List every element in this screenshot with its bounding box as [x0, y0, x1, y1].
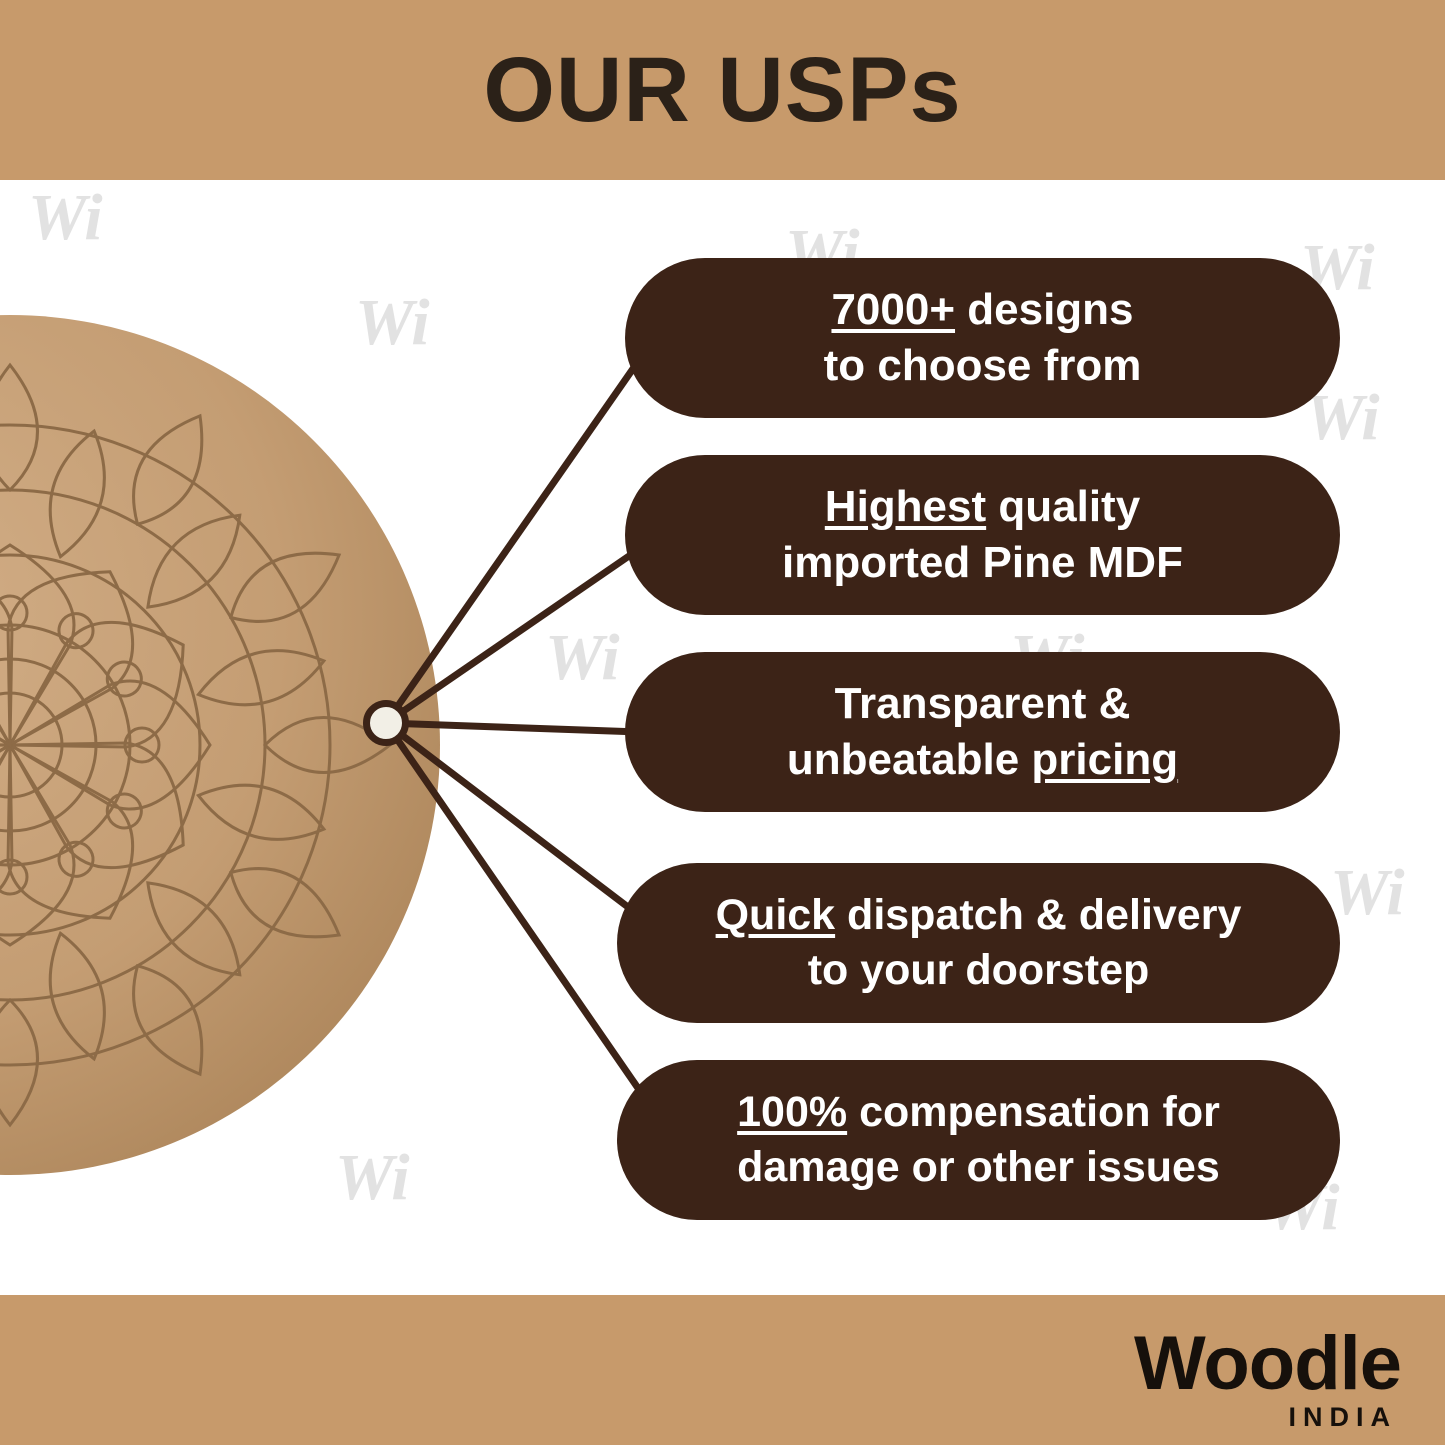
watermark-logo: Wi [1330, 855, 1405, 931]
usp-pricing-line1: Transparent & [835, 679, 1131, 728]
usp-pricing-line2-pre: unbeatable [787, 735, 1032, 784]
watermark-logo: Wi [545, 620, 620, 696]
usp-dispatch-line2: to your doorstep [808, 946, 1150, 994]
usp-pill-quality[interactable]: Highest quality imported Pine MDF [625, 455, 1340, 615]
usp-pill-compensation[interactable]: 100% compensation for damage or other is… [617, 1060, 1340, 1220]
usp-pill-pricing[interactable]: Transparent & unbeatable pricing [625, 652, 1340, 812]
diagram-hub-node [363, 700, 409, 746]
usp-designs-highlight: 7000+ [831, 285, 955, 334]
brand-logo: Woodle INDIA [1134, 1326, 1401, 1431]
watermark-logo: Wi [28, 180, 103, 256]
usp-dispatch-highlight: Quick [716, 891, 836, 939]
usp-designs-line1: designs [955, 285, 1134, 334]
usp-quality-line2: imported Pine MDF [782, 538, 1183, 587]
usp-compensation-line2: damage or other issues [737, 1143, 1220, 1191]
usp-quality-highlight: Highest [825, 482, 986, 531]
infographic-canvas: Wi Wi Wi Wi Wi Wi Wi Wi Wi Wi [0, 0, 1445, 1445]
usp-dispatch-line1: dispatch & delivery [835, 891, 1241, 939]
usp-pill-designs[interactable]: 7000+ designs to choose from [625, 258, 1340, 418]
page-title: OUR USPs [0, 0, 1445, 180]
usp-quality-line1: quality [986, 482, 1140, 531]
usp-pill-dispatch[interactable]: Quick dispatch & delivery to your doorst… [617, 863, 1340, 1023]
usp-designs-line2: to choose from [824, 341, 1142, 390]
brand-subtitle: INDIA [1134, 1404, 1397, 1431]
brand-name: Woodle [1134, 1326, 1401, 1402]
usp-pricing-highlight: pricing [1031, 735, 1178, 784]
usp-compensation-line1: compensation for [847, 1088, 1220, 1136]
usp-compensation-highlight: 100% [737, 1088, 847, 1136]
